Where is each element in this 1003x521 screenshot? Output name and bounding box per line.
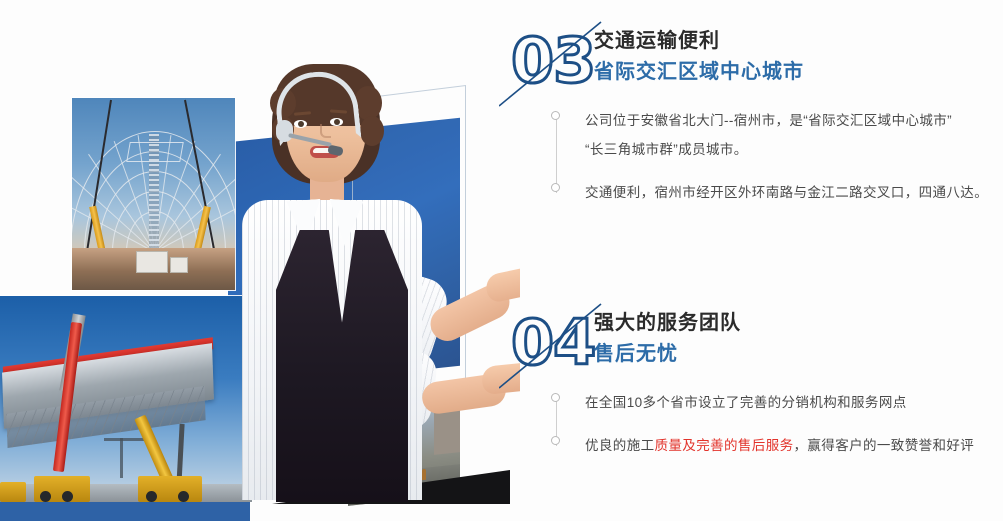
bullet-circle-icon <box>551 183 560 192</box>
customer-service-representative <box>236 62 504 502</box>
bullet-circle-icon <box>551 393 560 402</box>
bullet-text: 交通便利，宿州市经开区外环南路与金江二路交叉口，四通八达。 <box>585 178 1003 207</box>
advantage-block-03: 03 交通运输便利 省际交汇区域中心城市 公司位于安徽省北大门--宿州市，是“省… <box>505 24 1003 207</box>
image-collage <box>0 0 520 521</box>
list-item: 交通便利，宿州市经开区外环南路与金江二路交叉口，四通八达。 <box>551 178 1003 207</box>
block-04-header: 04 强大的服务团队 售后无忧 <box>505 306 1003 388</box>
list-item: 公司位于安徽省北大门--宿州市，是“省际交汇区域中心城市” “长三角城市群”成员… <box>551 106 1003 164</box>
block-04-number: 04 <box>511 310 595 376</box>
list-item: 在全国10多个省市设立了完善的分销机构和服务网点 <box>551 388 1003 417</box>
block-04-number-badge: 04 <box>505 306 597 388</box>
red-canopy-lifting-photo <box>0 296 252 502</box>
block-04-title: 强大的服务团队 <box>594 308 741 338</box>
bullet-text: 在全国10多个省市设立了完善的分销机构和服务网点 <box>585 388 1003 417</box>
list-item: 优良的施工质量及完善的售后服务，赢得客户的一致赞誉和好评 <box>551 431 1003 460</box>
bullet-text: 优良的施工质量及完善的售后服务，赢得客户的一致赞誉和好评 <box>585 431 1003 460</box>
advantages-banner: 03 交通运输便利 省际交汇区域中心城市 公司位于安徽省北大门--宿州市，是“省… <box>0 0 1003 521</box>
block-03-title: 交通运输便利 <box>594 26 804 56</box>
content-column: 03 交通运输便利 省际交汇区域中心城市 公司位于安徽省北大门--宿州市，是“省… <box>505 0 1003 521</box>
block-04-bullet-list: 在全国10多个省市设立了完善的分销机构和服务网点 优良的施工质量及完善的售后服务… <box>551 388 1003 460</box>
block-03-bullet-list: 公司位于安徽省北大门--宿州市，是“省际交汇区域中心城市” “长三角城市群”成员… <box>551 106 1003 207</box>
block-03-header: 03 交通运输便利 省际交汇区域中心城市 <box>505 24 1003 106</box>
block-03-titles: 交通运输便利 省际交汇区域中心城市 <box>594 26 804 88</box>
bullet-circle-icon <box>551 436 560 445</box>
block-03-number-badge: 03 <box>505 24 597 106</box>
advantage-block-04: 04 强大的服务团队 售后无忧 在全国10多个省市设立了完善的分销机构和服务网点 <box>505 306 1003 460</box>
block-03-number: 03 <box>511 28 595 94</box>
block-04-titles: 强大的服务团队 售后无忧 <box>594 308 741 370</box>
highlighted-text: 质量及完善的售后服务 <box>655 438 794 453</box>
bullet-text: 公司位于安徽省北大门--宿州市，是“省际交汇区域中心城市” “长三角城市群”成员… <box>585 106 1003 164</box>
bottom-blue-band <box>0 502 250 521</box>
block-03-subtitle: 省际交汇区域中心城市 <box>594 56 804 88</box>
block-04-subtitle: 售后无忧 <box>594 338 741 370</box>
bullet-circle-icon <box>551 111 560 120</box>
steel-dome-construction-photo <box>72 98 235 290</box>
